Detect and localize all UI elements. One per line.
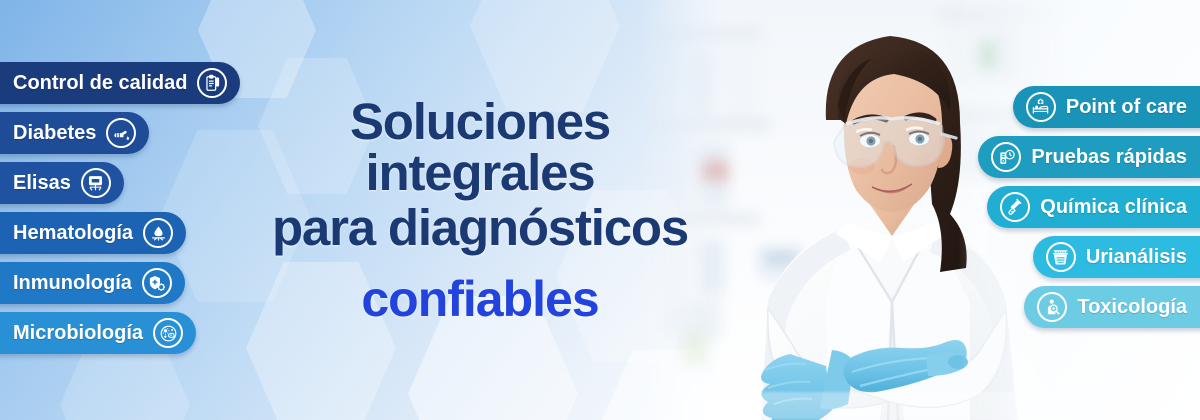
blooddrop-icon: [143, 218, 173, 248]
pill-label: Inmunología: [13, 272, 132, 295]
promo-banner: Soluciones integrales para diagnósticos …: [0, 0, 1200, 420]
shield-cross-icon: [142, 268, 172, 298]
fingerstick-icon: [106, 118, 136, 148]
urine-cup-icon: [1046, 242, 1076, 272]
pill-label: Microbiología: [13, 322, 143, 345]
pill-label: Hematología: [13, 222, 133, 245]
pill-label: Pruebas rápidas: [1031, 146, 1187, 169]
rapid-test-icon: [991, 142, 1021, 172]
test-tube-icon: [1000, 192, 1030, 222]
microplate-icon: [81, 168, 111, 198]
pill-label: Química clínica: [1040, 196, 1187, 219]
pill-label: Toxicología: [1077, 296, 1187, 319]
hospital-bed-icon: [1026, 92, 1056, 122]
category-pill-toxicologia[interactable]: Toxicología: [1024, 286, 1200, 328]
pill-label: Urianálisis: [1086, 246, 1187, 269]
headline-line-2: para diagnósticos: [250, 202, 710, 253]
category-pill-elisas[interactable]: Elisas: [0, 162, 124, 204]
tox-person-icon: [1037, 292, 1067, 322]
headline-line-1: Soluciones integrales: [250, 96, 710, 198]
category-pill-microbiologia[interactable]: Microbiología: [0, 312, 196, 354]
headline: Soluciones integrales para diagnósticos …: [250, 96, 710, 324]
category-pill-hematologia[interactable]: Hematología: [0, 212, 186, 254]
pill-label: Point of care: [1066, 96, 1187, 119]
pill-label: Elisas: [13, 172, 71, 195]
clipboard-icon: [197, 68, 227, 98]
category-pill-pruebas-rapidas[interactable]: Pruebas rápidas: [978, 136, 1200, 178]
headline-accent-word: confiables: [250, 274, 710, 324]
petridish-icon: [153, 318, 183, 348]
category-pill-quimica-clinica[interactable]: Química clínica: [987, 186, 1200, 228]
category-pill-urianalisis[interactable]: Urianálisis: [1033, 236, 1200, 278]
category-pill-diabetes[interactable]: Diabetes: [0, 112, 149, 154]
pill-label: Diabetes: [13, 122, 96, 145]
category-pill-control-de-calidad[interactable]: Control de calidad: [0, 62, 240, 104]
pill-label: Control de calidad: [13, 72, 187, 95]
category-pill-point-of-care[interactable]: Point of care: [1013, 86, 1200, 128]
category-pill-inmunologia[interactable]: Inmunología: [0, 262, 185, 304]
